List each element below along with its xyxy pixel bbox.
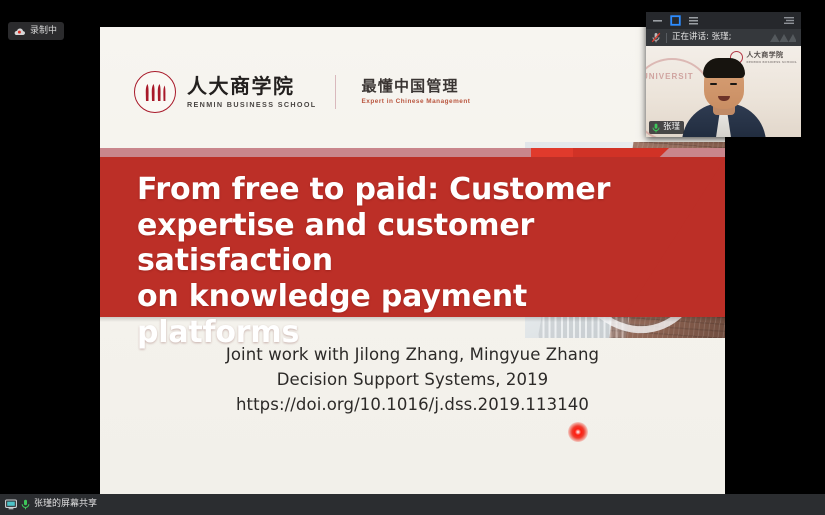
subtitle-line-doi: https://doi.org/10.1016/j.dss.2019.11314… [100, 392, 725, 417]
laser-pointer-dot [568, 422, 588, 442]
taskbar-item-label: 张瑾的屏幕共享 [34, 500, 97, 509]
audio-waveform-icon [770, 32, 796, 43]
view-list-icon[interactable] [688, 15, 699, 26]
video-tile[interactable]: UNIVERSIT 人大商学院 RENMIN BUSINESS SCHOOL [646, 46, 801, 137]
school-name-cn: 人大商学院 [187, 76, 317, 97]
mic-active-green-icon [21, 499, 30, 510]
desktop-root: 录制中 人大商学院 RENMI [0, 0, 825, 515]
mic-active-green-icon[interactable] [652, 123, 660, 133]
school-name-en: RENMIN BUSINESS SCHOOL [187, 100, 317, 109]
participant-eye-right [730, 83, 737, 86]
school-name-block: 人大商学院 RENMIN BUSINESS SCHOOL [187, 76, 317, 109]
cloud-recording-icon [13, 27, 26, 36]
video-window-titlebar[interactable] [646, 12, 801, 29]
maximize-icon[interactable] [670, 15, 681, 26]
options-menu-icon[interactable] [783, 15, 795, 26]
school-tagline-block: 最懂中国管理 Expert in Chinese Management [362, 79, 471, 105]
participant-hair [703, 58, 745, 78]
mic-muted-red-icon[interactable] [651, 32, 661, 43]
shared-screen-slide[interactable]: 人大商学院 RENMIN BUSINESS SCHOOL 最懂中国管理 Expe… [100, 27, 725, 494]
slide-title: From free to paid: Customer expertise an… [137, 172, 697, 350]
recording-indicator[interactable]: 录制中 [8, 22, 64, 40]
participant-name: 张瑾 [663, 123, 680, 132]
active-speaker-bar: 正在讲话: 张瑾; [646, 29, 801, 46]
participant-eye-left [710, 83, 717, 86]
taskbar-item-screen-share[interactable]: 张瑾的屏幕共享 [0, 494, 103, 515]
active-speaker-label: 正在讲话: 张瑾; [672, 33, 731, 42]
participant-name-chip: 张瑾 [649, 121, 684, 134]
slide-subtitle: Joint work with Jilong Zhang, Mingyue Zh… [100, 342, 725, 417]
school-logo-lockup: 人大商学院 RENMIN BUSINESS SCHOOL 最懂中国管理 Expe… [134, 70, 470, 114]
screen-share-icon [5, 499, 17, 510]
school-tagline-en: Expert in Chinese Management [362, 98, 471, 105]
slide-canvas: 人大商学院 RENMIN BUSINESS SCHOOL 最懂中国管理 Expe… [100, 27, 725, 494]
minimize-icon[interactable] [652, 15, 663, 26]
video-window[interactable]: 正在讲话: 张瑾; UNIVERSIT 人大商学院 RENMIN BUSINES… [646, 12, 801, 137]
recording-label: 录制中 [30, 27, 57, 36]
subtitle-line-journal: Decision Support Systems, 2019 [100, 367, 725, 392]
school-tagline-cn: 最懂中国管理 [362, 79, 471, 95]
renmin-university-seal-icon [134, 71, 176, 113]
taskbar: 张瑾的屏幕共享 [0, 494, 825, 515]
logo-divider [335, 75, 336, 109]
speaker-bar-divider [666, 33, 667, 43]
